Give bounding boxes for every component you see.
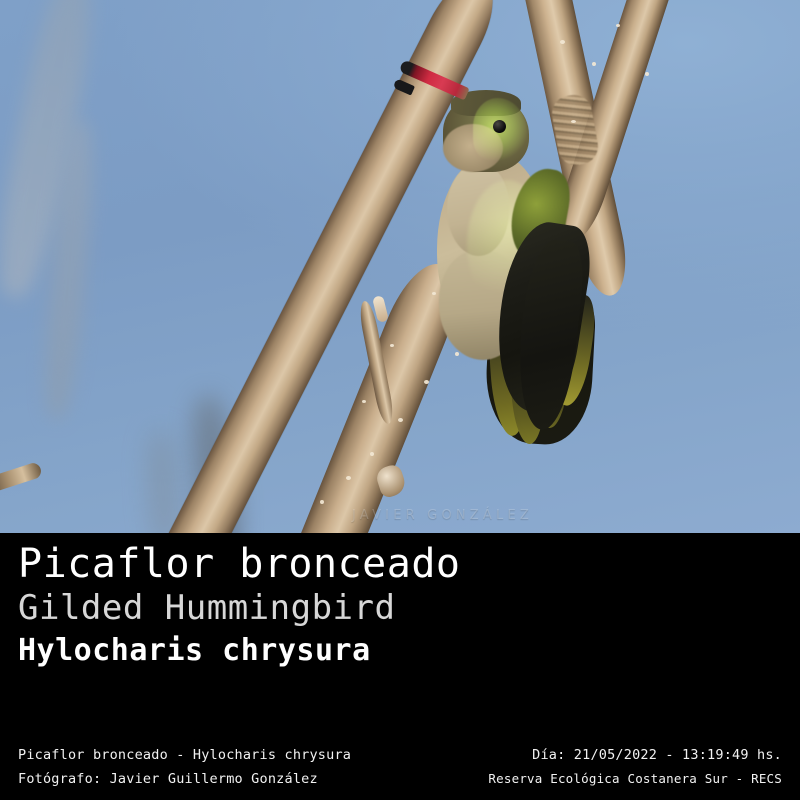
bark-speckle <box>645 72 649 76</box>
photograph: JAVIER GONZÁLEZ <box>0 0 800 533</box>
bark-speckle <box>320 500 324 504</box>
footer-species-line: Picaflor bronceado - Hylocharis chrysura <box>18 747 351 763</box>
footer-bar: Picaflor bronceado - Hylocharis chrysura… <box>0 733 800 800</box>
bark-speckle <box>592 62 596 66</box>
bark-speckle <box>346 476 351 480</box>
bird-photo-card: JAVIER GONZÁLEZ Picaflor bronceado Gilde… <box>0 0 800 800</box>
bark-speckle <box>390 344 394 347</box>
bark-speckle <box>362 400 366 403</box>
species-name-block: Picaflor bronceado Gilded Hummingbird Hy… <box>18 542 460 673</box>
photo-watermark: JAVIER GONZÁLEZ <box>352 508 533 523</box>
bark-speckle <box>370 452 374 456</box>
scientific-name: Hylocharis chrysura <box>18 629 460 673</box>
common-name-spanish: Picaflor bronceado <box>18 542 460 587</box>
bark-speckle <box>616 24 620 27</box>
bark-speckle <box>560 40 565 44</box>
name-banner: Picaflor bronceado Gilded Hummingbird Hy… <box>0 533 800 733</box>
common-name-english: Gilded Hummingbird <box>18 587 460 629</box>
footer-datetime-line: Día: 21/05/2022 - 13:19:49 hs. <box>532 747 782 763</box>
bird-bill-tip <box>393 78 415 95</box>
bird-eye <box>493 120 506 133</box>
footer-photographer-line: Fotógrafo: Javier Guillermo González <box>18 771 318 787</box>
bark-speckle <box>398 418 403 422</box>
footer-location-line: Reserva Ecológica Costanera Sur - RECS <box>488 771 782 786</box>
hummingbird <box>395 72 610 407</box>
